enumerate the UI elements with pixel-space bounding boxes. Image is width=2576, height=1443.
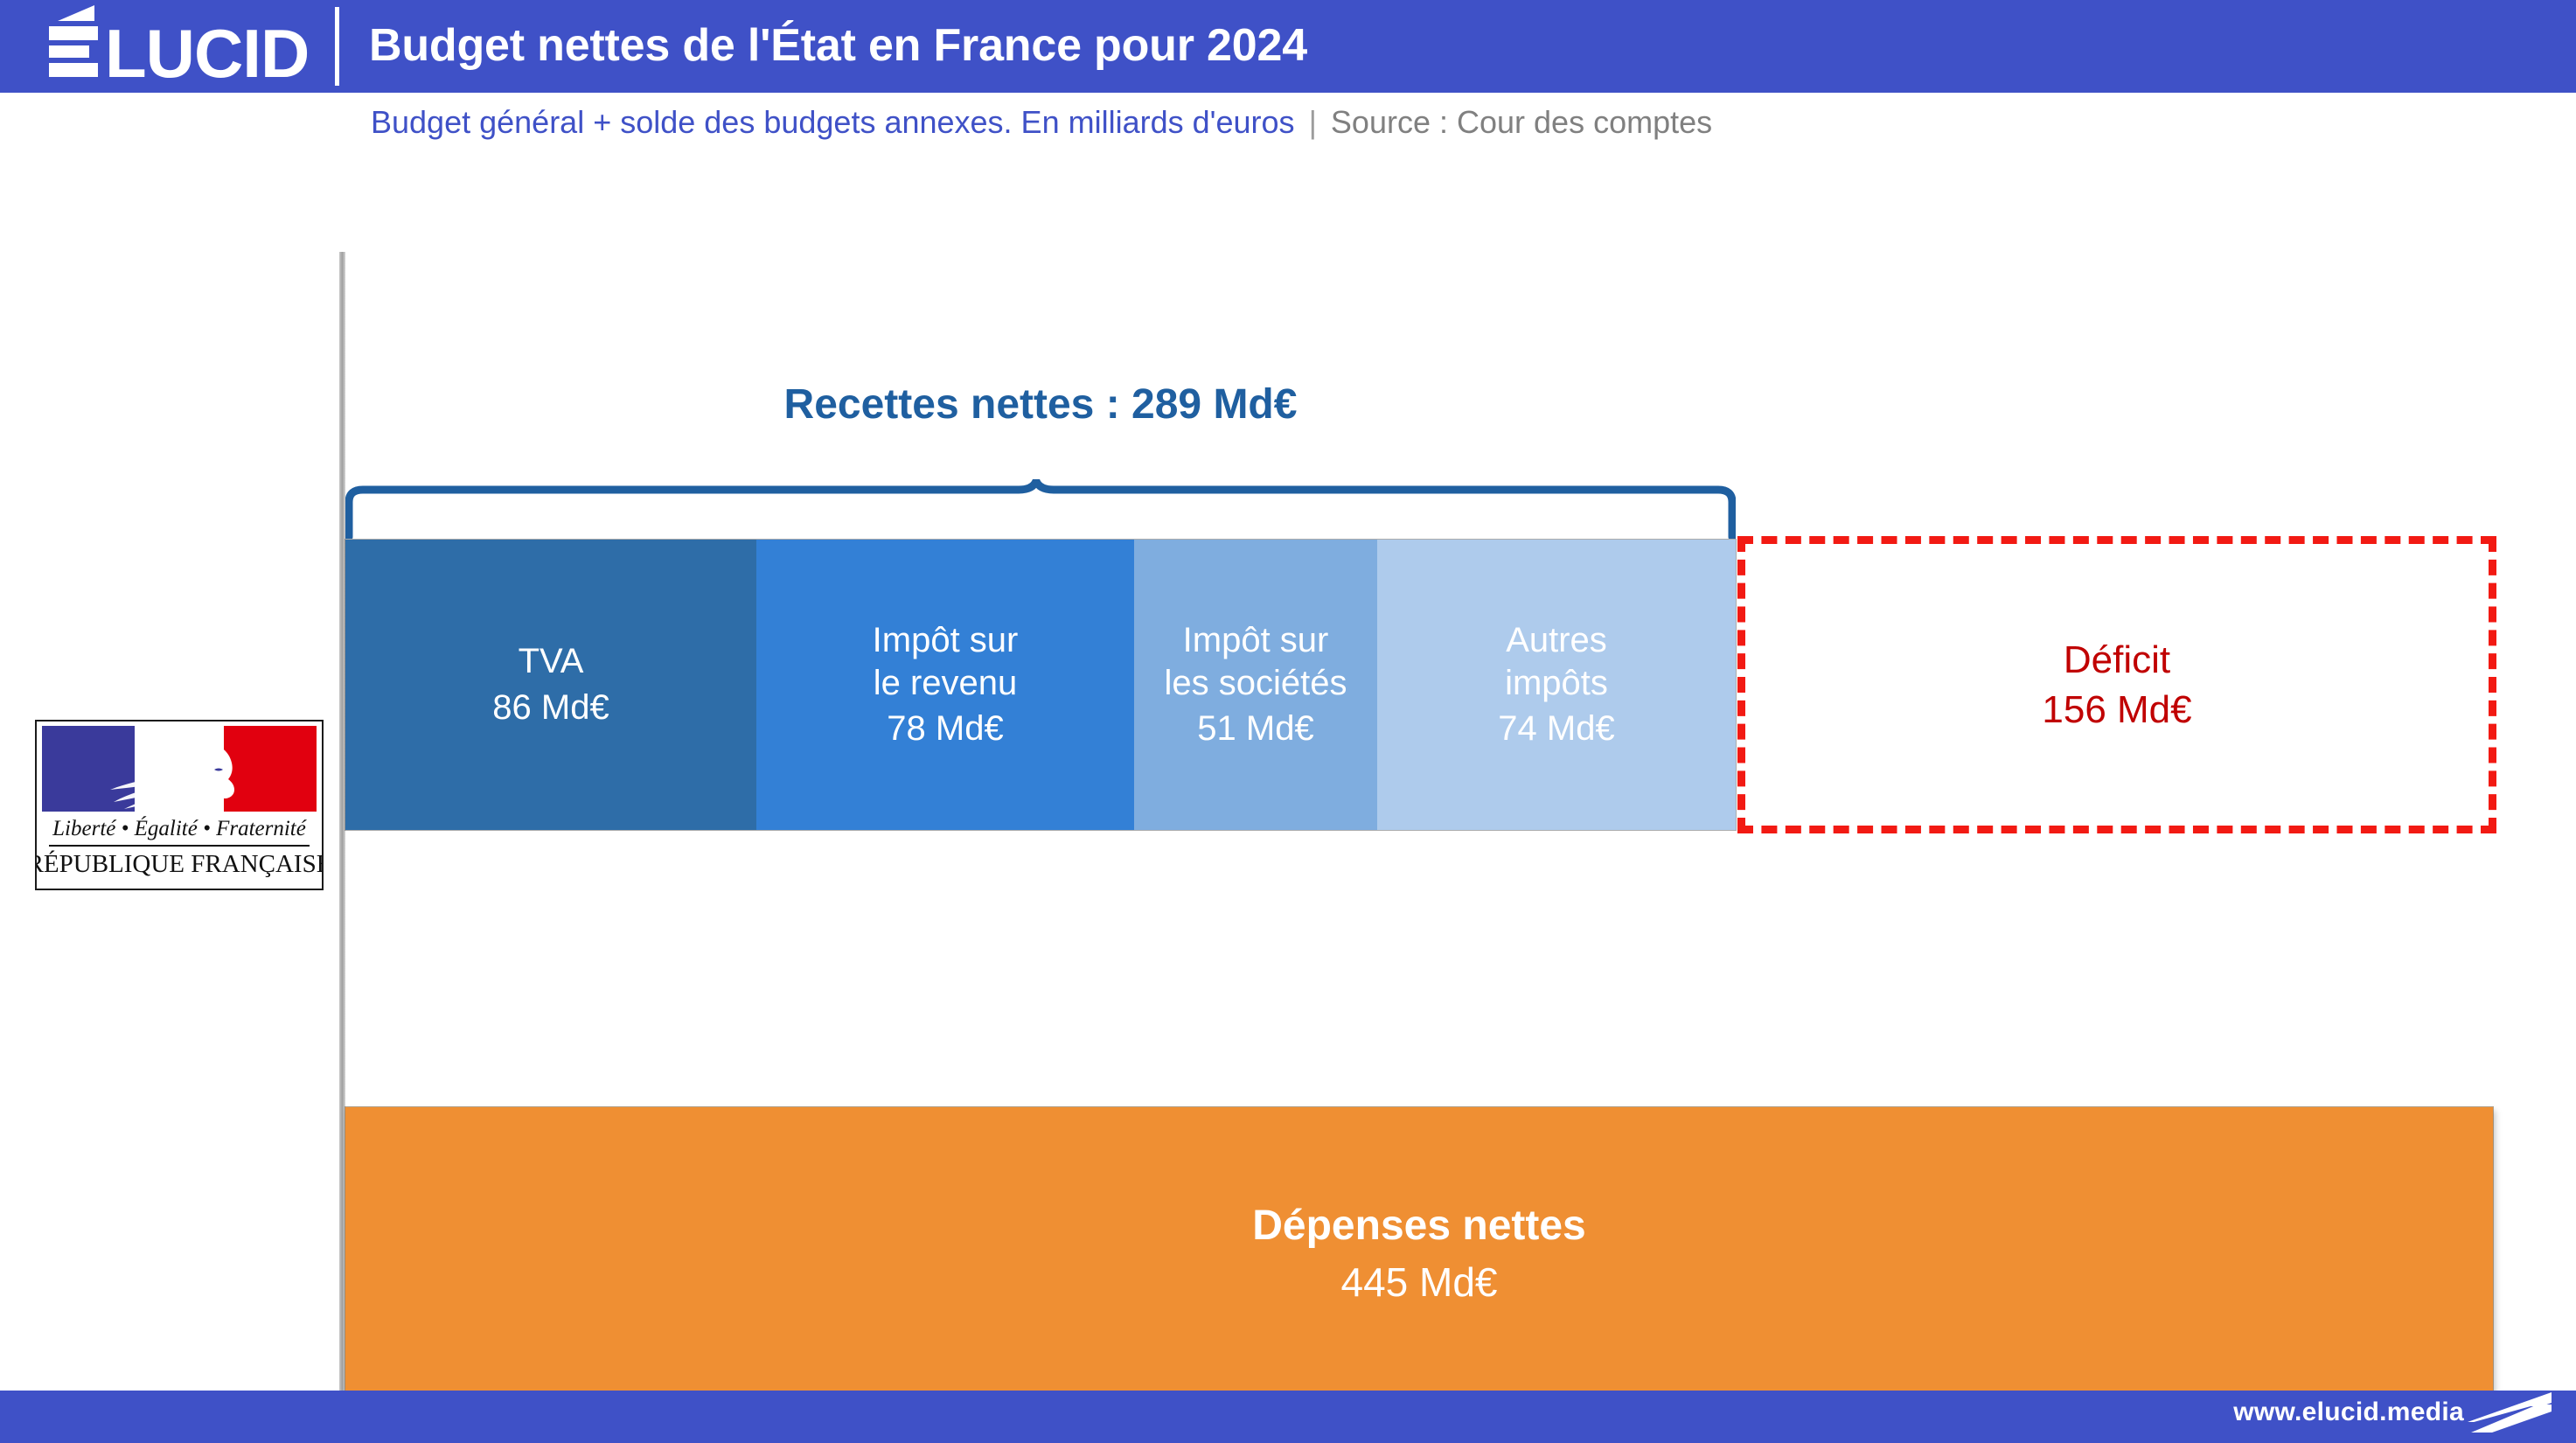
segment-value: 74 Md€ — [1498, 708, 1614, 750]
segment-label-line2: impôts — [1505, 662, 1608, 705]
segment-label-line2: le revenu — [874, 662, 1018, 705]
svg-text:RÉPUBLIQUE FRANÇAISE: RÉPUBLIQUE FRANÇAISE — [37, 849, 322, 878]
source-text: Source : Cour des comptes — [1331, 104, 1712, 141]
bar-segment-impot-societes: Impôt sur les sociétés 51 Md€ — [1134, 540, 1377, 830]
bar-segment-autres-impots: Autres impôts 74 Md€ — [1377, 540, 1736, 830]
elucid-flag-logo: LUCID — [40, 5, 329, 86]
page-title: Budget nettes de l'État en France pour 2… — [369, 0, 1307, 93]
header-divider — [335, 7, 339, 86]
bar-segment-tva: TVA 86 Md€ — [345, 540, 756, 830]
chart-plot-area: Recettes nettes : 289 Md€ TVA 86 Md€ Imp… — [0, 149, 2576, 1391]
depenses-nettes-bar: Dépenses nettes 445 Md€ — [345, 1107, 2493, 1399]
segment-label-line1: Impôt sur — [873, 619, 1019, 662]
segment-label-line1: Autres — [1506, 619, 1607, 662]
footer-bar: www.elucid.media — [0, 1391, 2576, 1443]
depenses-label: Dépenses nettes — [1252, 1202, 1586, 1250]
depenses-value: 445 Md€ — [1340, 1258, 1497, 1306]
subtitle-row: Budget général + solde des budgets annex… — [371, 98, 1712, 147]
republique-francaise-logo: Liberté • Égalité • Fraternité RÉPUBLIQU… — [35, 720, 324, 890]
segment-label-line2: les sociétés — [1165, 662, 1347, 705]
recettes-stacked-bar: TVA 86 Md€ Impôt sur le revenu 78 Md€ Im… — [345, 540, 1736, 830]
segment-value: 86 Md€ — [492, 687, 609, 729]
segment-value: 78 Md€ — [887, 708, 1003, 750]
elucid-mark-icon — [2468, 1392, 2552, 1441]
segment-value: 51 Md€ — [1197, 708, 1313, 750]
header-bar: LUCID Budget nettes de l'État en France … — [0, 0, 2576, 93]
bar-segment-impot-revenu: Impôt sur le revenu 78 Md€ — [756, 540, 1134, 830]
recettes-total-label: Recettes nettes : 289 Md€ — [345, 380, 1736, 429]
vertical-axis-line — [339, 252, 345, 1443]
deficit-label: Déficit — [2064, 635, 2170, 685]
infographic-page: LUCID Budget nettes de l'État en France … — [0, 0, 2576, 1443]
deficit-value: 156 Md€ — [2042, 685, 2191, 735]
recettes-brace — [345, 479, 1736, 539]
deficit-callout-box: Déficit 156 Md€ — [1737, 536, 2496, 833]
footer-url[interactable]: www.elucid.media — [2233, 1398, 2464, 1427]
segment-label: TVA — [519, 640, 584, 683]
segment-label-line1: Impôt sur — [1183, 619, 1329, 662]
svg-text:LUCID: LUCID — [105, 15, 309, 86]
svg-text:Liberté • Égalité • Fraternité: Liberté • Égalité • Fraternité — [52, 816, 307, 840]
subtitle-text: Budget général + solde des budgets annex… — [371, 104, 1295, 141]
subtitle-separator: | — [1309, 104, 1317, 141]
